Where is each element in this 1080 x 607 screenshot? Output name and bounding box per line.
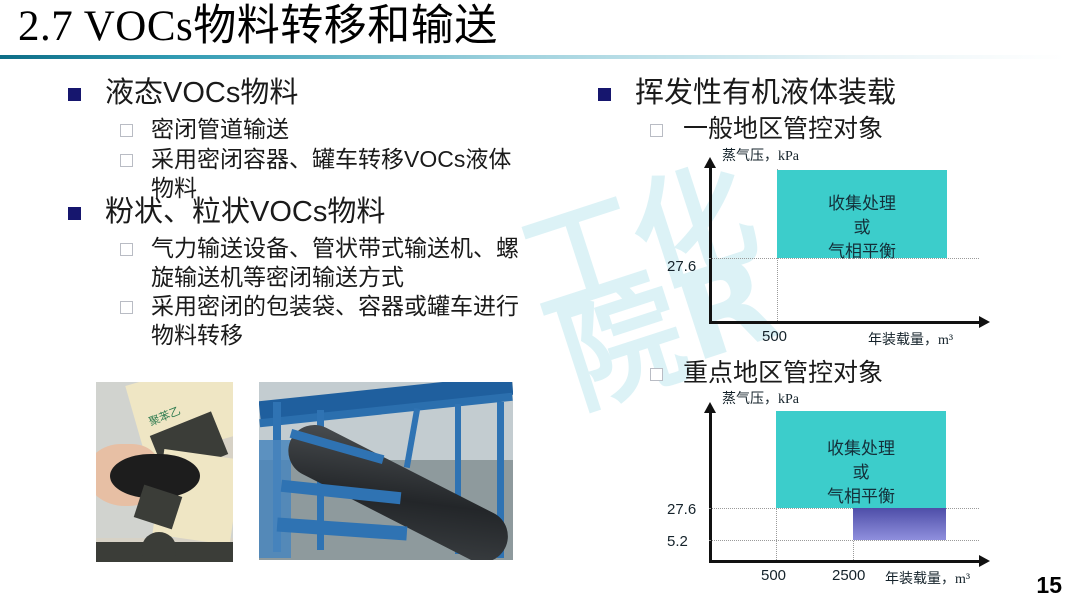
chart2-x-axis-label: 年装载量，m³ (885, 568, 970, 588)
chart2-x-axis (709, 560, 981, 563)
chart2-region-collect-treat: 收集处理 或 气相平衡 (776, 411, 946, 508)
bullet-volatile-liquid-loading: 挥发性有机液体装载 (598, 75, 896, 111)
bullet-heading-text: 粉状、粒状VOCs物料 (105, 194, 385, 230)
chart2-y-tick-52: 5.2 (667, 533, 688, 550)
sub-bullet-sealed-packaging: 采用密闭的包装袋、容器或罐车进行物料转移 (120, 292, 520, 350)
hollow-square-bullet-icon (650, 368, 663, 381)
chart1-x-axis (709, 321, 981, 324)
sub-bullet-text: 采用密闭的包装袋、容器或罐车进行物料转移 (151, 292, 520, 350)
hollow-square-bullet-icon (120, 301, 133, 314)
chart1-x-tick-500: 500 (762, 328, 787, 345)
chart2-x-tick-2500: 2500 (832, 567, 865, 584)
chart1-x-arrow-icon (979, 316, 990, 328)
chart1-y-axis-label: 蒸气压，kPa (722, 145, 799, 165)
page-title: 2.7 VOCs物料转移和输送 (18, 2, 498, 52)
chart2-x-arrow-icon (979, 555, 990, 567)
hollow-square-bullet-icon (120, 243, 133, 256)
chart1-x-axis-label: 年装载量，m³ (868, 329, 953, 349)
bagged-powder-photo: 聚苯乙 (96, 382, 233, 562)
sub-bullet-text: 一般地区管控对象 (683, 113, 883, 145)
bullet-liquid-vocs: 液态VOCs物料 (68, 75, 298, 111)
chart2-region-secondary (853, 508, 946, 540)
chart2-region-label-line3: 气相平衡 (776, 485, 946, 509)
chart1-y-tick-276: 27.6 (667, 258, 696, 275)
page-number: 15 (1036, 572, 1062, 599)
sub-bullet-general-area: 一般地区管控对象 (650, 113, 883, 145)
title-divider (0, 55, 1065, 59)
chart-key-area: 蒸气压，kPa 收集处理 或 气相平衡 27.6 5.2 500 2500 年装… (660, 388, 1000, 598)
chart1-region-label-line2: 或 (777, 216, 947, 240)
square-bullet-icon (598, 88, 611, 101)
bullet-heading-text: 液态VOCs物料 (105, 75, 298, 111)
chart1-region-label-line3: 气相平衡 (777, 240, 947, 264)
chart-general-area: 蒸气压，kPa 收集处理 或 气相平衡 27.6 500 年装载量，m³ (660, 145, 1000, 345)
sub-bullet-pneumatic-conveying: 气力输送设备、管状带式输送机、螺旋输送机等密闭输送方式 (120, 234, 530, 292)
chart2-x-tick-500: 500 (761, 567, 786, 584)
chart2-y-axis-label: 蒸气压，kPa (722, 388, 799, 408)
hollow-square-bullet-icon (120, 124, 133, 137)
chart2-gridline-52 (709, 540, 979, 541)
square-bullet-icon (68, 88, 81, 101)
tubular-belt-conveyor-photo (259, 382, 513, 560)
sub-bullet-closed-pipe: 密闭管道输送 (120, 115, 540, 144)
sub-bullet-text: 气力输送设备、管状带式输送机、螺旋输送机等密闭输送方式 (151, 234, 530, 292)
chart2-region-label-line1: 收集处理 (776, 437, 946, 461)
bullet-heading-text: 挥发性有机液体装载 (635, 75, 896, 111)
sub-bullet-text: 密闭管道输送 (151, 115, 289, 144)
sub-bullet-text: 重点地区管控对象 (683, 357, 883, 389)
chart1-region-collect-treat: 收集处理 或 气相平衡 (777, 170, 947, 258)
chart1-y-axis (709, 167, 712, 323)
sub-bullet-key-area: 重点地区管控对象 (650, 357, 883, 389)
chart2-region-label-line2: 或 (776, 461, 946, 485)
bullet-powder-granular-vocs: 粉状、粒状VOCs物料 (68, 194, 385, 230)
chart1-region-label-line1: 收集处理 (777, 192, 947, 216)
chart2-y-tick-276: 27.6 (667, 501, 696, 518)
square-bullet-icon (68, 207, 81, 220)
hollow-square-bullet-icon (650, 124, 663, 137)
hollow-square-bullet-icon (120, 154, 133, 167)
